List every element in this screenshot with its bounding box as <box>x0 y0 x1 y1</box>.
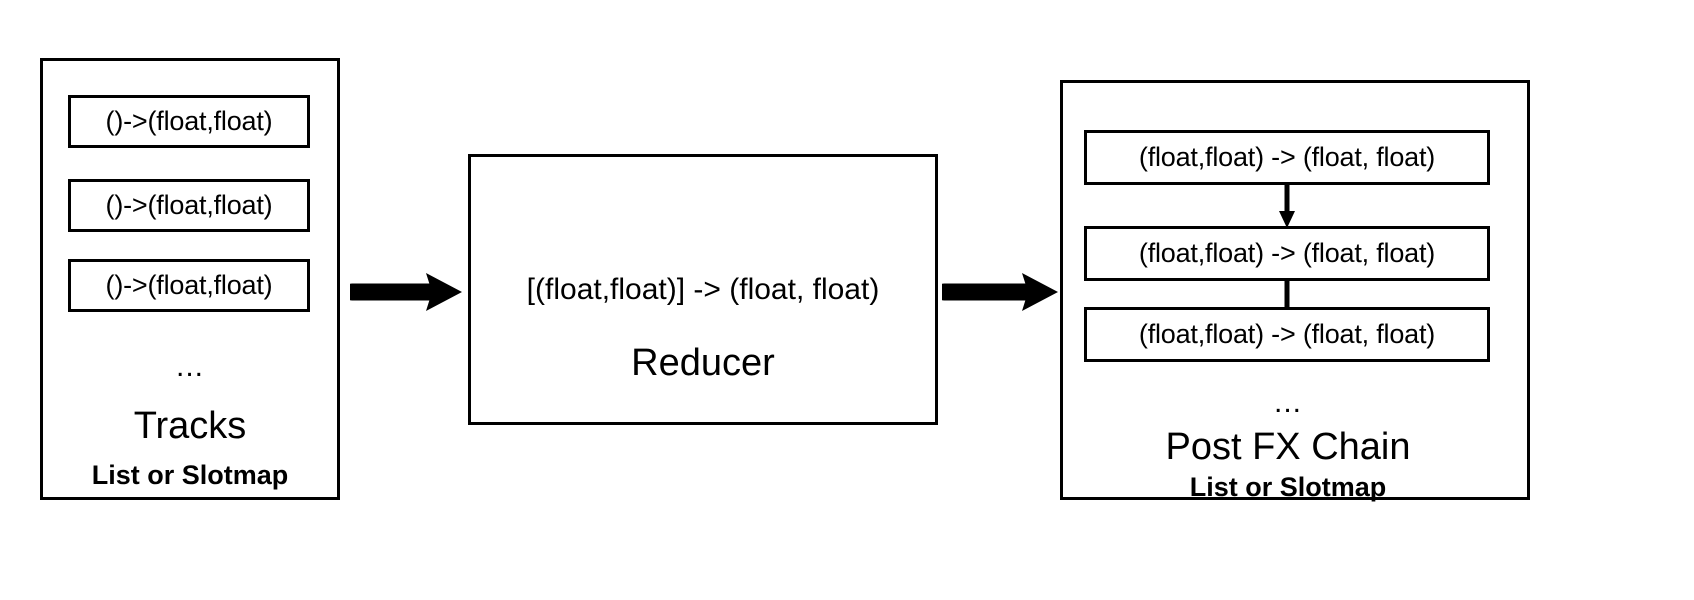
track-item-3: ()->(float,float) <box>68 259 310 312</box>
track-signature: ()->(float,float) <box>106 272 273 299</box>
track-item-1: ()->(float,float) <box>68 95 310 148</box>
postfx-signature: (float,float) -> (float, float) <box>1139 144 1435 171</box>
tracks-subtitle: List or Slotmap <box>92 462 289 489</box>
diagram-canvas: ()->(float,float) ()->(float,float) ()->… <box>0 0 1694 600</box>
postfx-title: Post FX Chain <box>1166 428 1411 466</box>
postfx-signature: (float,float) -> (float, float) <box>1139 240 1435 267</box>
tracks-title: Tracks <box>134 407 247 445</box>
track-signature: ()->(float,float) <box>106 192 273 219</box>
tracks-ellipsis: ... <box>176 352 204 382</box>
arrow-tracks-to-reducer <box>350 270 468 314</box>
arrow-postfx-1-to-2 <box>1276 183 1298 229</box>
track-signature: ()->(float,float) <box>106 108 273 135</box>
arrow-reducer-to-postfx <box>942 270 1064 314</box>
postfx-ellipsis: ... <box>1274 388 1302 418</box>
reducer-signature: [(float,float)] -> (float, float) <box>527 275 880 305</box>
reducer-title: Reducer <box>631 344 775 382</box>
track-item-2: ()->(float,float) <box>68 179 310 232</box>
postfx-signature: (float,float) -> (float, float) <box>1139 321 1435 348</box>
postfx-item-2: (float,float) -> (float, float) <box>1084 226 1490 281</box>
postfx-subtitle: List or Slotmap <box>1190 474 1387 501</box>
postfx-item-1: (float,float) -> (float, float) <box>1084 130 1490 185</box>
postfx-item-3: (float,float) -> (float, float) <box>1084 307 1490 362</box>
